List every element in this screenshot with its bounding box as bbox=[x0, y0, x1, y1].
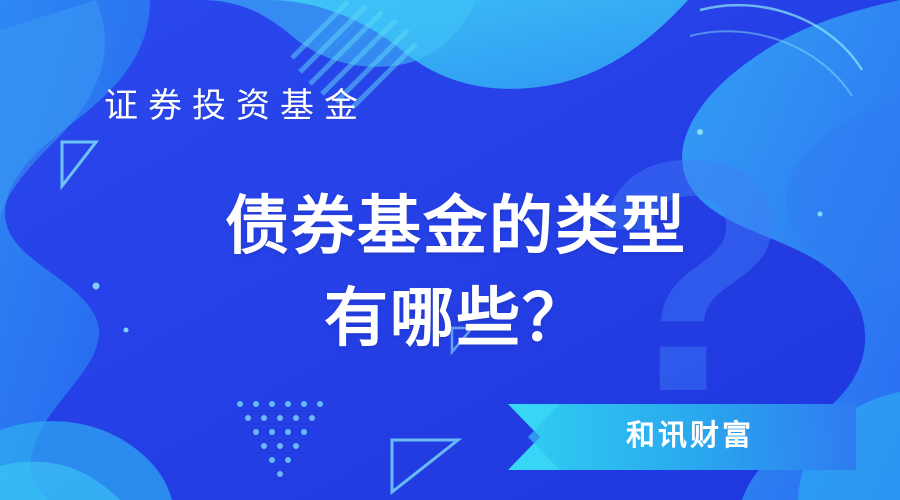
headline-line-1: 债券基金的类型 bbox=[225, 190, 687, 262]
promo-banner: ? bbox=[0, 0, 900, 500]
headline-line-2: 有哪些？ bbox=[12, 272, 900, 364]
eyebrow-text: 证券投资基金 bbox=[104, 78, 368, 127]
brand-label: 和讯财富 bbox=[575, 412, 805, 454]
page-title: 债券基金的类型 有哪些？ bbox=[0, 180, 900, 364]
